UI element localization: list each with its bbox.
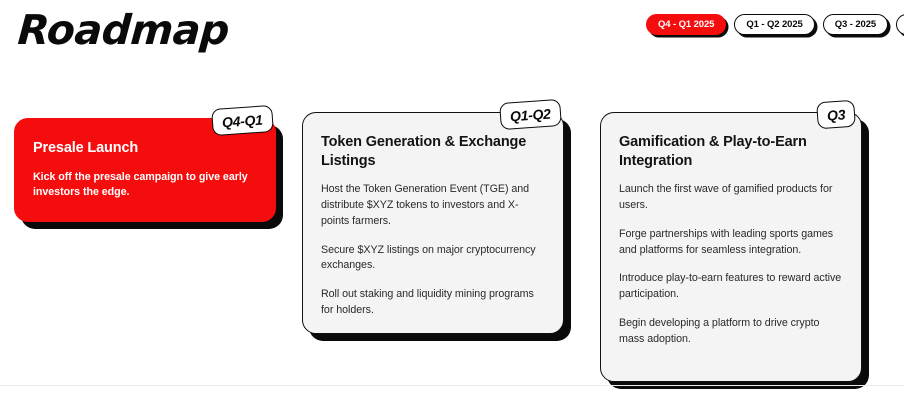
roadmap-card[interactable]: Q4-Q1Presale LaunchKick off the presale … [14,118,276,222]
roadmap-card-paragraph: Forge partnerships with leading sports g… [619,227,843,259]
roadmap-card-title: Gamification & Play-to-Earn Integration [619,133,843,170]
roadmap-card-paragraph: Kick off the presale campaign to give ea… [33,170,257,202]
roadmap-card-title: Token Generation & Exchange Listings [321,133,545,170]
roadmap-card-title: Presale Launch [33,139,257,158]
page-divider [0,385,904,386]
roadmap-card-quarter-badge: Q1-Q2 [500,99,562,130]
roadmap-card-body: Kick off the presale campaign to give ea… [33,170,257,202]
roadmap-card-quarter-badge: Q3 [816,100,856,130]
roadmap-card-paragraph: Introduce play-to-earn features to rewar… [619,271,843,303]
roadmap-card-paragraph: Secure $XYZ listings on major cryptocurr… [321,243,545,275]
roadmap-card-quarter-badge: Q4-Q1 [212,105,274,136]
roadmap-card-paragraph: Launch the first wave of gamified produc… [619,182,843,214]
roadmap-card-paragraph: Roll out staking and liquidity mining pr… [321,287,545,319]
roadmap-card-body: Host the Token Generation Event (TGE) an… [321,182,545,319]
roadmap-card-paragraph: Begin developing a platform to drive cry… [619,316,843,348]
roadmap-card-list: Q4-Q1Presale LaunchKick off the presale … [0,0,904,409]
roadmap-card-body: Launch the first wave of gamified produc… [619,182,843,348]
roadmap-card[interactable]: Q3Gamification & Play-to-Earn Integratio… [600,112,862,382]
roadmap-card-paragraph: Host the Token Generation Event (TGE) an… [321,182,545,229]
roadmap-card[interactable]: Q1-Q2Token Generation & Exchange Listing… [302,112,564,334]
